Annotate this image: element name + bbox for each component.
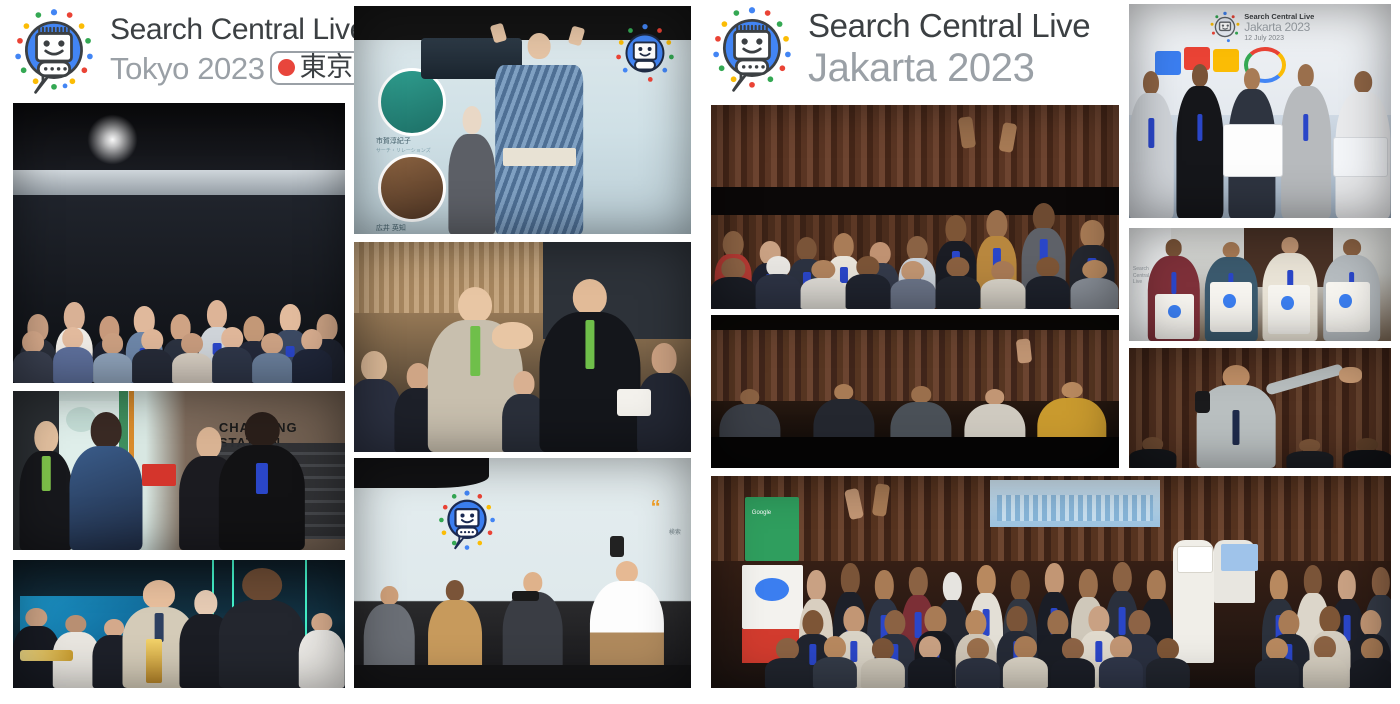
tokyo-title-line2: Tokyo 2023 東京 xyxy=(110,51,366,85)
photo-tokyo-stage-yukata-speaker: 市賀淳紀子 サーチ・リレーションズ 広井 英知 xyxy=(354,6,691,234)
photo-jakarta-backdrop-group: Search Central Live Jakarta 2023 12 July… xyxy=(1129,4,1391,218)
jakarta-title-line1: Search Central Live xyxy=(808,9,1090,42)
vignette xyxy=(711,105,1119,309)
vignette xyxy=(711,476,1391,688)
photo-scene xyxy=(13,103,345,383)
vignette xyxy=(13,560,345,688)
tokyo-title-city-year: Tokyo 2023 xyxy=(110,53,265,84)
tokyo-header: Search Central Live Tokyo 2023 東京 xyxy=(8,4,366,96)
jakarta-title-line2: Jakarta 2023 xyxy=(808,48,1090,88)
search-central-robot-mascot-icon xyxy=(706,2,798,94)
search-central-robot-mascot-icon xyxy=(8,4,100,96)
photo-tokyo-audience-heart-hands xyxy=(354,242,691,452)
vignette xyxy=(354,242,691,452)
photo-jakarta-audience-waving xyxy=(711,105,1119,309)
photo-scene: CHARGING STATION xyxy=(13,391,345,550)
photo-jakarta-swag-bags: SearchCentralLive xyxy=(1129,228,1391,341)
collage-board: Search Central Live Tokyo 2023 東京 xyxy=(0,0,1400,704)
japan-badge: 東京 xyxy=(270,51,362,85)
photo-jakarta-audience-question xyxy=(1129,348,1391,468)
photo-scene: Search Central Live Jakarta 2023 12 July… xyxy=(1129,4,1391,218)
vignette xyxy=(354,458,691,688)
photo-tokyo-charging-station: CHARGING STATION xyxy=(13,391,345,550)
tokyo-title-line1: Search Central Live xyxy=(110,15,366,45)
japan-badge-label: 東京 xyxy=(300,54,353,81)
vignette xyxy=(354,6,691,234)
photo-scene xyxy=(13,560,345,688)
vignette xyxy=(711,315,1119,468)
photo-tokyo-networking-drinks xyxy=(13,560,345,688)
japan-flag-dot-icon xyxy=(278,59,295,76)
photo-tokyo-panel-discussion: “ 検索 xyxy=(354,458,691,688)
photo-jakarta-panel-stage xyxy=(711,315,1119,468)
photo-jakarta-group-photo-full: Google xyxy=(711,476,1391,688)
jakarta-title-block: Search Central Live Jakarta 2023 xyxy=(808,9,1090,88)
photo-tokyo-audience-wide xyxy=(13,103,345,383)
vignette xyxy=(1129,4,1391,218)
photo-scene xyxy=(711,105,1119,309)
photo-scene: SearchCentralLive xyxy=(1129,228,1391,341)
vignette xyxy=(1129,348,1391,468)
vignette xyxy=(13,103,345,383)
photo-scene xyxy=(354,242,691,452)
vignette xyxy=(1129,228,1391,341)
photo-scene xyxy=(1129,348,1391,468)
photo-scene: Google xyxy=(711,476,1391,688)
tokyo-title-block: Search Central Live Tokyo 2023 東京 xyxy=(110,15,366,85)
vignette xyxy=(13,391,345,550)
photo-scene: “ 検索 xyxy=(354,458,691,688)
photo-scene: 市賀淳紀子 サーチ・リレーションズ 広井 英知 xyxy=(354,6,691,234)
jakarta-header: Search Central Live Jakarta 2023 xyxy=(706,2,1090,94)
photo-scene xyxy=(711,315,1119,468)
